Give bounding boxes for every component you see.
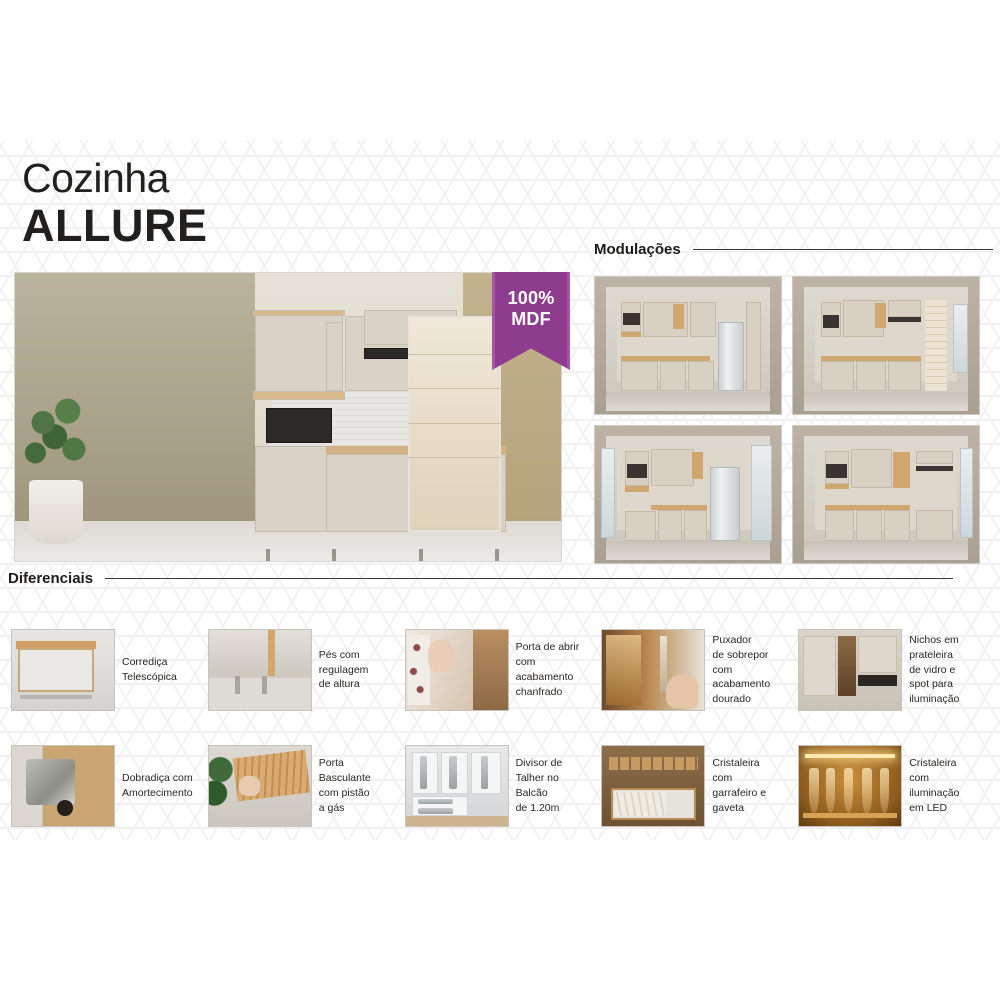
diferencial-item: Dobradiça comAmortecimento (8, 728, 205, 844)
page-title: Cozinha ALLURE (22, 158, 207, 248)
product-sheet: Cozinha ALLURE (0, 0, 1000, 1000)
diferencial-item: Nichos emprateleirade vidro espot parail… (795, 612, 992, 728)
pes-com-regulagem-icon (208, 629, 312, 711)
porta-basculante-icon (208, 745, 312, 827)
diferencial-label: Divisor deTalher noBalcãode 1.20m (516, 756, 563, 816)
title-line-cozinha: Cozinha (22, 158, 207, 199)
diferencial-label: Porta de abrircomacabamentochanfrado (516, 640, 580, 700)
diferencial-label: Nichos emprateleirade vidro espot parail… (909, 633, 959, 708)
modulacao-thumb (792, 276, 980, 415)
badge-material: MDF (511, 309, 551, 330)
modulacoes-title: Modulações (594, 241, 681, 258)
diferenciais-title: Diferenciais (8, 570, 93, 587)
dobradica-amortecimento-icon (11, 745, 115, 827)
hero-kitchen-photo (14, 272, 562, 562)
diferencial-label: Pés comregulagemde altura (319, 648, 369, 693)
diferencial-item: Porta de abrircomacabamentochanfrado (402, 612, 599, 728)
corredica-telescopica-icon (11, 629, 115, 711)
diferenciais-heading: Diferenciais (8, 570, 996, 587)
diferenciais-grid: CorrediçaTelescópica Pés comregulagemde … (8, 612, 992, 844)
modulacao-thumb (792, 425, 980, 564)
diferencial-label: CorrediçaTelescópica (122, 655, 177, 685)
diferencial-item: PortaBasculantecom pistãoa gás (205, 728, 402, 844)
modulacao-thumb (594, 425, 782, 564)
divisor-de-talher-icon (405, 745, 509, 827)
modulacoes-heading: Modulações (594, 241, 998, 258)
diferencial-item: Divisor deTalher noBalcãode 1.20m (402, 728, 599, 844)
diferencial-item: Puxadorde sobreporcomacabamentodourado (598, 612, 795, 728)
porta-de-abrir-icon (405, 629, 509, 711)
diferencial-item: Cristaleiracomiluminaçãoem LED (795, 728, 992, 844)
diferencial-label: PortaBasculantecom pistãoa gás (319, 756, 371, 816)
nichos-prateleira-icon (798, 629, 902, 711)
title-line-allure: ALLURE (22, 203, 207, 248)
cristaleira-led-icon (798, 745, 902, 827)
heading-rule (693, 249, 993, 250)
diferencial-label: Puxadorde sobreporcomacabamentodourado (712, 633, 770, 708)
diferencial-label: Cristaleiracomiluminaçãoem LED (909, 756, 959, 816)
modulacoes-grid (594, 276, 986, 564)
diferencial-label: Cristaleiracomgarrafeiro egaveta (712, 756, 766, 816)
cristaleira-garrafeiro-icon (601, 745, 705, 827)
decor-plant-foliage (20, 394, 96, 489)
badge-percent: 100% (508, 288, 555, 309)
heading-rule (105, 578, 953, 579)
diferencial-item: CorrediçaTelescópica (8, 612, 205, 728)
diferenciais-row: CorrediçaTelescópica Pés comregulagemde … (8, 612, 992, 728)
diferenciais-row: Dobradiça comAmortecimento PortaBasculan… (8, 728, 992, 844)
decor-plant-pot (29, 480, 84, 543)
diferencial-item: Cristaleiracomgarrafeiro egaveta (598, 728, 795, 844)
diferencial-label: Dobradiça comAmortecimento (122, 771, 193, 801)
puxador-dourado-icon (601, 629, 705, 711)
diferencial-item: Pés comregulagemde altura (205, 612, 402, 728)
modulacao-thumb (594, 276, 782, 415)
